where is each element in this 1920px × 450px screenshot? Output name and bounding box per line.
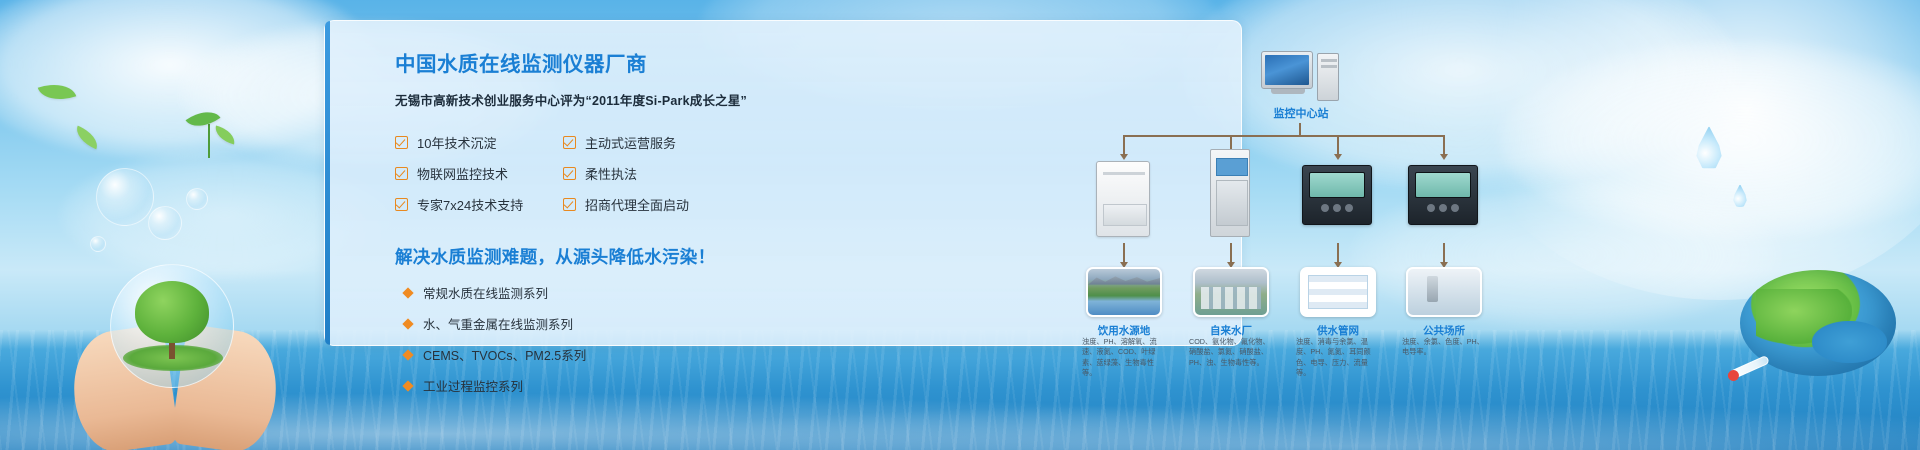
device-lcd-screen — [1415, 172, 1471, 198]
checkbox-icon — [563, 167, 576, 180]
feature-label: 专家7x24技术支持 — [417, 195, 523, 214]
node-caption: 供水管网 — [1295, 323, 1381, 338]
bubble — [186, 188, 208, 210]
checkbox-icon — [563, 136, 576, 149]
device-buttons[interactable] — [1309, 204, 1365, 212]
device-sampling-rack[interactable] — [1210, 149, 1250, 237]
pc-tower-icon — [1317, 53, 1339, 101]
list-item[interactable]: 工业过程监控系列 — [395, 376, 755, 395]
diagram-connector — [1337, 135, 1339, 155]
tree-foliage — [135, 281, 209, 343]
monitoring-system-diagram: 监控中心站 饮用水源地 自来水厂 供水管网 公共场所 浊度、PH、溶解氧、流速、… — [1067, 35, 1547, 351]
diamond-bullet-icon — [402, 287, 413, 298]
device-buttons[interactable] — [1415, 204, 1471, 212]
node-description: 浊度、PH、溶解氧、流速、液氮、COD、叶绿素、蓝绿藻、生物毒性等。 — [1082, 337, 1166, 379]
bubble — [148, 206, 182, 240]
node-caption: 自来水厂 — [1188, 323, 1274, 338]
monitor-stand — [1271, 89, 1305, 94]
feature-label: 招商代理全面启动 — [585, 195, 689, 214]
feature-label: 10年技术沉淀 — [417, 133, 496, 152]
node-caption: 饮用水源地 — [1081, 323, 1167, 338]
node-description: 浊度、余氯、色度、PH、电导率。 — [1402, 337, 1486, 358]
feature-label: 主动式运营服务 — [585, 133, 676, 152]
feature-item[interactable]: 物联网监控技术 — [395, 164, 563, 183]
list-item[interactable]: CEMS、TVOCs、PM2.5系列 — [395, 345, 755, 364]
control-center-computer-icon — [1261, 51, 1339, 101]
checkbox-icon — [395, 198, 408, 211]
list-item[interactable]: 水、气重金属在线监测系列 — [395, 314, 755, 333]
page-title: 中国水质在线监测仪器厂商 — [395, 47, 755, 77]
diamond-bullet-icon — [402, 318, 413, 329]
diamond-bullet-icon — [402, 349, 413, 360]
diagram-connector — [1230, 243, 1232, 263]
scene-thumbnail-source-water[interactable] — [1086, 267, 1162, 317]
list-item-label: CEMS、TVOCs、PM2.5系列 — [423, 345, 586, 364]
checkbox-icon — [563, 198, 576, 211]
control-center-label: 监控中心站 — [1217, 105, 1385, 121]
feature-item[interactable]: 主动式运营服务 — [563, 133, 755, 152]
feature-item[interactable]: 专家7x24技术支持 — [395, 195, 563, 214]
monitor-icon — [1261, 51, 1313, 89]
diagram-connector — [1299, 123, 1301, 135]
diagram-connector — [1443, 243, 1445, 263]
diagram-connector — [1123, 243, 1125, 263]
hands-holding-tree-illustration — [70, 290, 280, 450]
section-title: 解决水质监测难题，从源头降低水污染！ — [395, 244, 755, 269]
scene-thumbnail-public-place[interactable] — [1406, 267, 1482, 317]
bubble — [90, 236, 106, 252]
product-line-list: 常规水质在线监测系列 水、气重金属在线监测系列 CEMS、TVOCs、PM2.5… — [395, 283, 755, 395]
left-column: 中国水质在线监测仪器厂商 无锡市高新技术创业服务中心评为“2011年度Si-Pa… — [395, 47, 755, 395]
diagram-connector — [1123, 135, 1125, 155]
list-item-label: 水、气重金属在线监测系列 — [423, 314, 573, 333]
page-subtitle: 无锡市高新技术创业服务中心评为“2011年度Si-Park成长之星” — [395, 90, 755, 109]
diagram-connector — [1337, 243, 1339, 263]
bubble — [96, 168, 154, 226]
feature-item[interactable]: 柔性执法 — [563, 164, 755, 183]
node-description: COD、氨化物、氟化物、硝酸盐、氯氮、硝酸盐、PH、浊、生物毒性等。 — [1189, 337, 1273, 368]
sprout-stem — [208, 124, 210, 158]
diagram-bus-line — [1123, 135, 1443, 137]
node-description: 浊度、消毒与余氯、温度、PH、氮氮、耳同颜色、电导、压力、流量等。 — [1296, 337, 1380, 379]
scene-thumbnail-waterworks[interactable] — [1193, 267, 1269, 317]
device-controller-1[interactable] — [1302, 165, 1372, 225]
water-sparkle — [0, 370, 1920, 450]
node-caption: 公共场所 — [1401, 323, 1487, 338]
scene-thumbnail-pipe-network[interactable] — [1300, 267, 1376, 317]
feature-label: 物联网监控技术 — [417, 164, 508, 183]
device-controller-2[interactable] — [1408, 165, 1478, 225]
device-lcd-screen — [1309, 172, 1365, 198]
diamond-bullet-icon — [402, 380, 413, 391]
checkbox-icon — [395, 167, 408, 180]
feature-checklist: 10年技术沉淀 主动式运营服务 物联网监控技术 柔性执法 专家7x24技术支持 … — [395, 133, 755, 214]
content-card: 中国水质在线监测仪器厂商 无锡市高新技术创业服务中心评为“2011年度Si-Pa… — [324, 20, 1242, 346]
checkbox-icon — [395, 136, 408, 149]
monitor-screen — [1265, 55, 1309, 85]
water-globe — [110, 264, 234, 388]
feature-label: 柔性执法 — [585, 164, 637, 183]
feature-item[interactable]: 招商代理全面启动 — [563, 195, 755, 214]
list-item-label: 工业过程监控系列 — [423, 376, 523, 395]
device-analyzer-cabinet[interactable] — [1096, 161, 1150, 237]
diagram-connector — [1443, 135, 1445, 155]
list-item[interactable]: 常规水质在线监测系列 — [395, 283, 755, 302]
list-item-label: 常规水质在线监测系列 — [423, 283, 548, 302]
feature-item[interactable]: 10年技术沉淀 — [395, 133, 563, 152]
